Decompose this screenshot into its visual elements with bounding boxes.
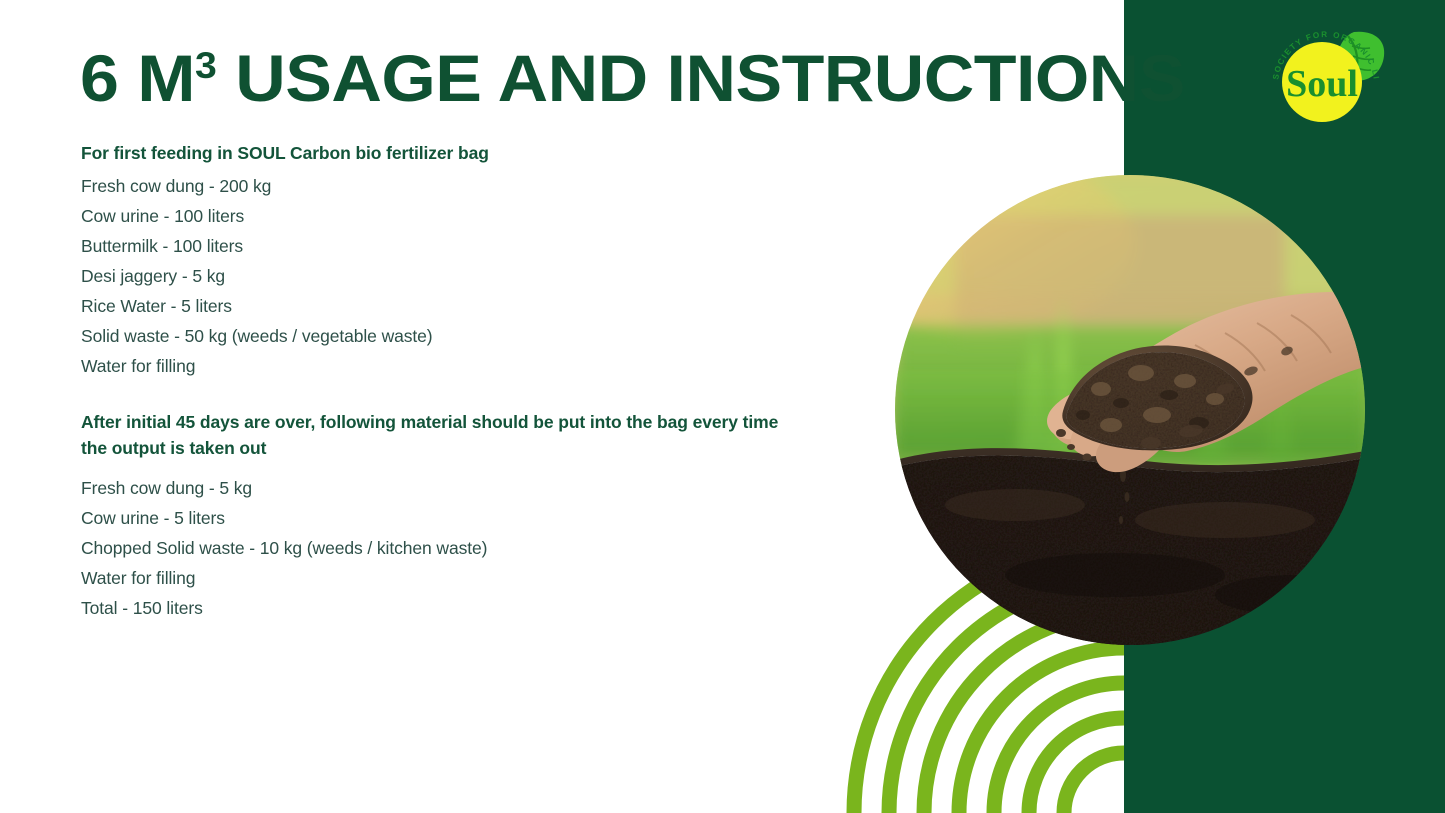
logo-wordmark: Soul (1286, 63, 1358, 105)
list-item: Total - 150 liters (81, 593, 811, 623)
content-area: 6 M3 USAGE AND INSTRUCTIONS For first fe… (0, 0, 1124, 813)
instructions-body: For first feeding in SOUL Carbon bio fer… (81, 140, 811, 623)
list-item: Chopped Solid waste - 10 kg (weeds / kit… (81, 533, 811, 563)
list-item: Water for filling (81, 563, 811, 593)
list-item: Desi jaggery - 5 kg (81, 261, 811, 291)
page-title: 6 M3 USAGE AND INSTRUCTIONS (80, 42, 1185, 114)
recurring-feeding-list: Fresh cow dung - 5 kg Cow urine - 5 lite… (81, 473, 811, 623)
list-item: Solid waste - 50 kg (weeds / vegetable w… (81, 321, 811, 351)
list-item: Buttermilk - 100 liters (81, 231, 811, 261)
page-title-main: 6 M (80, 41, 195, 115)
page-title-superscript: 3 (195, 45, 216, 86)
first-feeding-list: Fresh cow dung - 200 kg Cow urine - 100 … (81, 171, 811, 381)
list-item: Water for filling (81, 351, 811, 381)
list-item: Fresh cow dung - 200 kg (81, 171, 811, 201)
section-heading-after-45-days: After initial 45 days are over, followin… (81, 409, 796, 461)
list-item: Rice Water - 5 liters (81, 291, 811, 321)
section-heading-first-feeding: For first feeding in SOUL Carbon bio fer… (81, 140, 811, 166)
soul-logo: SOCIETY FOR ORGANIC LIVING Soul (1262, 22, 1390, 134)
list-item: Cow urine - 5 liters (81, 503, 811, 533)
list-item: Cow urine - 100 liters (81, 201, 811, 231)
slide-root: SOCIETY FOR ORGANIC LIVING Soul 6 M3 USA… (0, 0, 1445, 813)
list-item: Fresh cow dung - 5 kg (81, 473, 811, 503)
page-title-rest: USAGE AND INSTRUCTIONS (216, 41, 1185, 115)
